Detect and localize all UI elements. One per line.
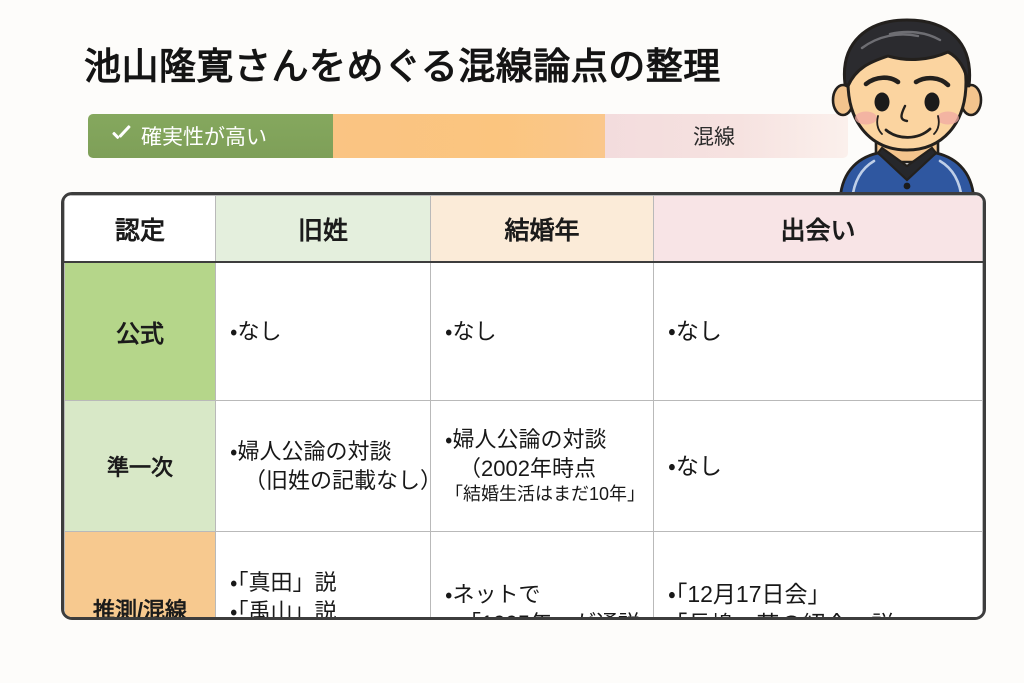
table-row: 公式 ・なし ・なし ・なし: [65, 262, 983, 401]
legend-segment-certain: 確実性が高い: [88, 114, 333, 158]
list-item: ・「真田」説: [230, 568, 418, 597]
check-icon: [110, 125, 132, 147]
list-item: （2002年時点: [445, 454, 641, 483]
cell-guess-deai: ・「12月17日会」 ・「長嶋一茂の紹介」説: [654, 532, 983, 621]
legend-confused-label: 混線: [693, 121, 735, 151]
comparison-table: 認定 旧姓 結婚年 出会い 公式 ・なし ・なし: [61, 192, 986, 620]
cell-official-deai: ・なし: [654, 262, 983, 401]
table-row: 推測/混線 ・「真田」説 ・「禹山」説 ・同姓同名モデル混線 ・ネットで 「19…: [65, 532, 983, 621]
legend-certain-label-group: 確実性が高い: [110, 121, 267, 151]
list-item: ・なし: [230, 317, 418, 346]
table-row: 準一次 ・婦人公論の対談 （旧姓の記載なし） ・婦人公論の対談 （2002年時点…: [65, 401, 983, 532]
row-label-semi: 準一次: [65, 401, 216, 532]
cell-semi-kekkon: ・婦人公論の対談 （2002年時点 「結婚生活はまだ10年」: [431, 401, 654, 532]
list-item: ・「禹山」説: [230, 597, 418, 620]
legend-segment-confused: 混線: [605, 114, 848, 158]
cell-guess-kekkon: ・ネットで 「1995年」が通説: [431, 532, 654, 621]
list-item: ・なし: [445, 317, 641, 346]
row-label-guess: 推測/混線: [65, 532, 216, 621]
list-item: （旧姓の記載なし）: [230, 466, 418, 495]
list-item: 「結婚生活はまだ10年」: [445, 483, 641, 507]
column-header-deai: 出会い: [654, 196, 983, 263]
list-item: ・ネットで: [445, 580, 641, 609]
legend-certain-label: 確実性が高い: [141, 121, 267, 151]
cell-semi-deai: ・なし: [654, 401, 983, 532]
list-item: ・なし: [668, 316, 970, 346]
cell-guess-kyusei: ・「真田」説 ・「禹山」説 ・同姓同名モデル混線: [216, 532, 431, 621]
column-header-kekkon: 結婚年: [431, 196, 654, 263]
cell-semi-kyusei: ・婦人公論の対談 （旧姓の記載なし）: [216, 401, 431, 532]
list-item: 「1995年」が通説: [445, 609, 641, 620]
list-item: ・婦人公論の対談: [445, 425, 641, 454]
column-header-kyusei: 旧姓: [216, 196, 431, 263]
list-item: ・なし: [668, 451, 970, 481]
list-item: ・「長嶋一茂の紹介」説: [668, 609, 970, 620]
row-label-official: 公式: [65, 262, 216, 401]
legend-segment-middle: [333, 114, 605, 158]
man-portrait-illustration: [790, 8, 1024, 208]
cell-official-kyusei: ・なし: [216, 262, 431, 401]
page-title: 池山隆寛さんをめぐる混線論点の整理: [84, 36, 721, 90]
certainty-legend-bar: 確実性が高い 混線: [88, 114, 848, 158]
cell-official-kekkon: ・なし: [431, 262, 654, 401]
column-header-nintei: 認定: [65, 196, 216, 263]
list-item: ・「12月17日会」: [668, 579, 970, 609]
table-header-row: 認定 旧姓 結婚年 出会い: [65, 196, 983, 263]
list-item: ・婦人公論の対談: [230, 437, 418, 466]
